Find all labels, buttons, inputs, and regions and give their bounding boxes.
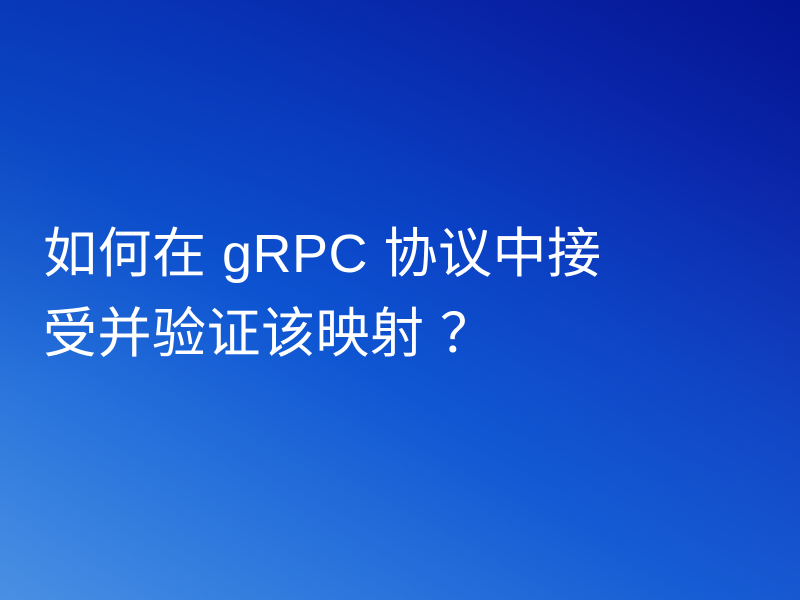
headline-line-1: 如何在 gRPC 协议中接 [43,214,743,294]
headline-line-2: 受并验证该映射 ？ [43,294,743,374]
gradient-banner: 如何在 gRPC 协议中接 受并验证该映射 ？ [0,0,800,600]
headline-block: 如何在 gRPC 协议中接 受并验证该映射 ？ [43,214,743,374]
